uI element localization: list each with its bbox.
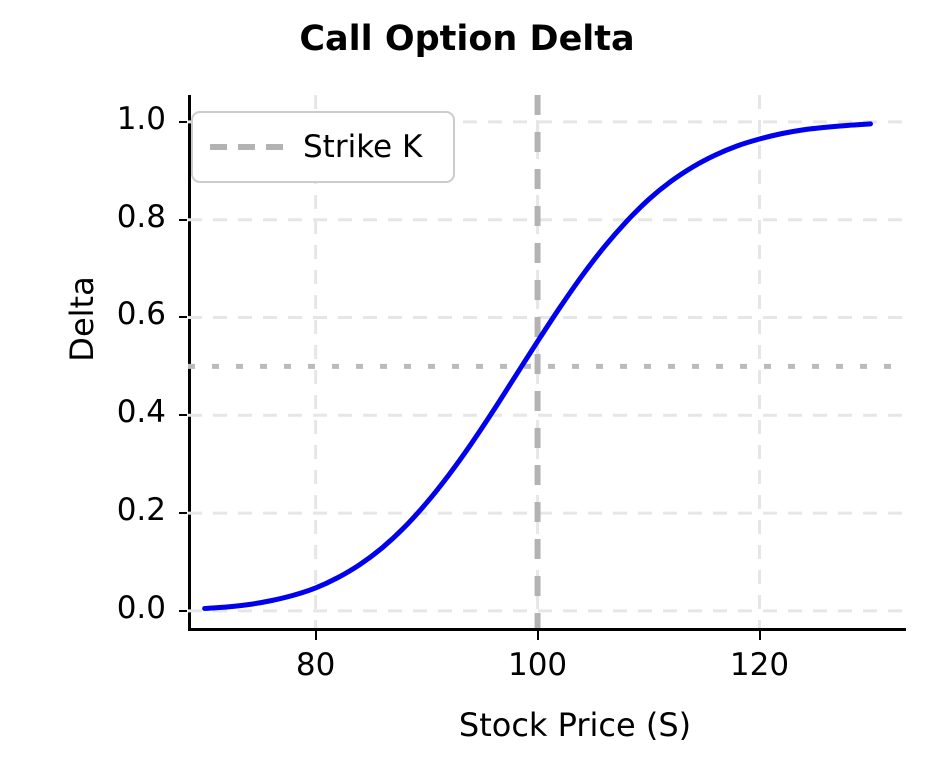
horizontal-gridlines [188,122,906,611]
x-tick-mark [315,631,317,640]
y-tick-mark [179,219,187,221]
y-tick-mark [179,610,187,612]
legend-box: Strike K [191,111,455,183]
y-tick-label: 1.0 [0,101,166,137]
y-tick-mark [179,414,187,416]
x-tick-mark [759,631,761,640]
y-tick-mark [179,512,187,514]
y-axis-label: Delta [63,219,101,419]
y-tick-label: 0.2 [0,492,166,528]
chart-figure: Call Option Delta 0.00.20.40.60.81.0 801… [0,0,934,784]
x-axis-label: Stock Price (S) [108,706,934,744]
x-tick-label: 120 [730,647,789,683]
chart-title: Call Option Delta [0,19,934,59]
y-tick-label: 0.0 [0,590,166,626]
x-tick-label: 100 [508,647,567,683]
y-tick-mark [179,316,187,318]
x-tick-label: 80 [296,647,335,683]
legend-dashed-line-icon [210,144,284,150]
x-tick-mark [537,631,539,640]
x-axis-spine [188,628,906,631]
y-tick-mark [179,121,187,123]
legend-entry-label: Strike K [303,129,422,165]
